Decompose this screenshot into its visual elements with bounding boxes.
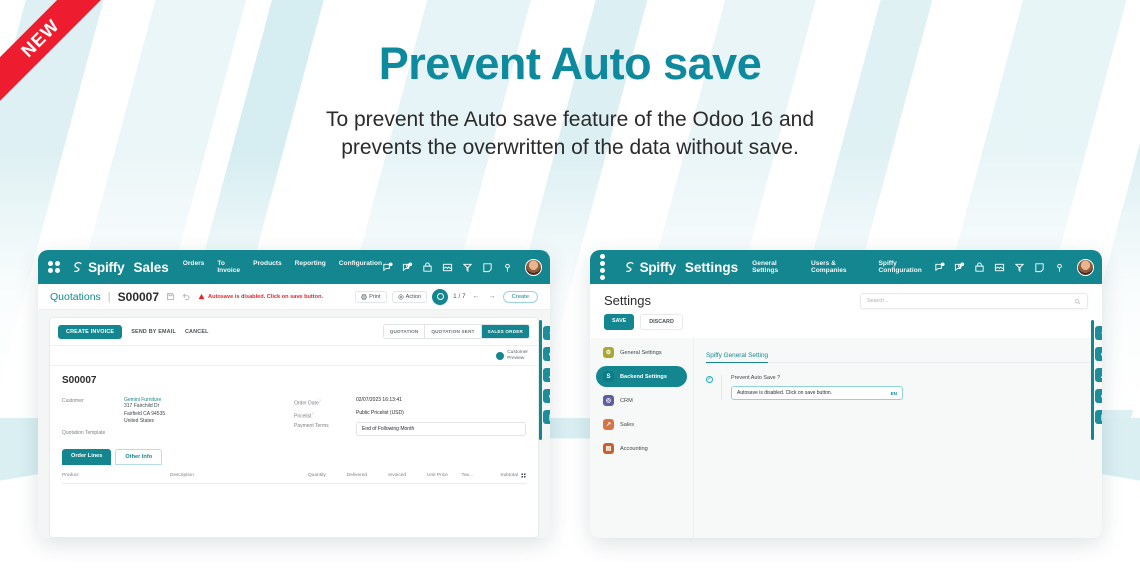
stage-sales-order[interactable]: SALES ORDER [481,325,529,338]
activities-icon[interactable] [402,262,413,273]
tab-spiffy-general-setting[interactable]: Spiffy General Setting [706,352,768,363]
sidebar-label-accounting: Accounting [620,446,648,452]
form-fields: Customer Gemini Furniture 317 Fairchild … [62,397,526,439]
pricelist-label: Pricelist? [294,410,356,420]
sidebar-item-accounting[interactable]: ▤ Accounting [596,438,687,459]
stage-quotation[interactable]: QUOTATION [384,325,425,338]
search-placeholder: Search... [867,298,889,304]
column-tax: Tax... [462,473,501,478]
order-lines-header: Product Description Quantity Delivered I… [62,466,526,484]
spiffy-logo[interactable]: Spiffy [622,260,676,275]
tab-other-info[interactable]: Other Info [115,449,162,465]
right-floating-toolbar [1095,326,1102,424]
sales-icon: ↗ [603,419,614,430]
sidebar-item-sales[interactable]: ↗ Sales [596,414,687,435]
payment-terms-input[interactable]: End of Following Month [356,422,526,436]
form-left-column: Customer Gemini Furniture 317 Fairchild … [62,397,294,439]
settings-title: Settings [604,293,651,308]
tab-order-lines[interactable]: Order Lines [62,449,111,465]
prevent-auto-save-label: Prevent Auto Save ? [731,375,903,381]
globe-icon [496,352,504,360]
nav-item-general-settings[interactable]: General Settings [752,260,798,274]
search-icon[interactable] [1095,347,1102,361]
breadcrumb-root[interactable]: Quotations [50,291,101,303]
page-title: Prevent Auto save [0,38,1140,90]
quotation-template-label: Quotation Template [62,429,124,436]
create-invoice-button[interactable]: CREATE INVOICE [58,325,122,339]
customer-preview-label: Customer Preview [507,350,528,362]
column-delivered: Delivered [347,473,388,478]
note-icon[interactable] [482,262,493,273]
sales-quotation-panel: Spiffy Sales Orders To Invoice Products … [38,250,550,538]
customer-address-line3: United States [124,418,165,426]
print-label: Print [369,294,381,300]
megaphone-icon[interactable] [1014,262,1025,273]
edit-pencil-icon[interactable] [543,368,550,382]
pager-count: 1 / 7 [453,293,465,300]
pin-icon[interactable] [1054,262,1065,273]
field-pricelist: Pricelist? Public Pricelist (USD) [294,410,526,420]
subtitle-line-2: prevents the overwritten of the data wit… [0,134,1140,162]
autosave-message-input[interactable]: Autosave is disabled. Click on save butt… [731,386,903,400]
column-subtotal: Subtotal [500,473,518,478]
header: Prevent Auto save To prevent the Auto sa… [0,0,1140,163]
discard-button[interactable]: DISCARD [640,314,683,330]
settings-panel: Spiffy Settings General Settings Users &… [590,250,1102,538]
zoom-icon[interactable] [543,389,550,403]
setting-content: Prevent Auto Save ? Autosave is disabled… [721,375,903,400]
control-panel-right: Print Action 1 / 7 ← → Create [355,289,538,305]
note-icon[interactable] [1034,262,1045,273]
search-input[interactable]: Search... [860,293,1088,309]
shop-icon[interactable] [422,262,433,273]
save-button[interactable]: SAVE [604,314,634,330]
column-subtotal-group: Subtotal [500,473,526,478]
left-floating-toolbar [543,326,550,424]
customer-value-group: Gemini Furniture 317 Fairchild Dr Fairfi… [124,397,165,426]
control-panel: Quotations | S00007 Autosave is disabled… [38,284,550,310]
customer-preview-button[interactable]: Customer Preview [50,345,538,366]
backend-settings-icon: S [603,371,614,382]
right-navbar: Spiffy Settings General Settings Users &… [590,250,1102,284]
order-date-label-text: Order Date [294,401,319,407]
gear-icon [398,294,404,300]
setting-prevent-auto-save: ✓ Prevent Auto Save ? Autosave is disabl… [706,375,1090,400]
autosave-message-value: Autosave is disabled. Click on save butt… [737,390,832,396]
create-button[interactable]: Create [503,291,538,303]
activities-icon[interactable] [954,262,965,273]
accounting-icon: ▤ [603,443,614,454]
field-payment-terms: Payment Terms End of Following Month [294,422,526,436]
nav-item-users-companies[interactable]: Users & Companies [811,260,866,274]
print-button[interactable]: Print [355,291,387,303]
page-subtitle: To prevent the Auto save feature of the … [0,106,1140,163]
user-avatar[interactable] [525,259,542,276]
field-quotation-template: Quotation Template [62,429,294,436]
autosave-warning-text: Autosave is disabled. Click on save butt… [208,294,323,300]
stage-quotation-sent[interactable]: QUOTATION SENT [424,325,480,338]
user-avatar[interactable] [1077,259,1094,276]
navbar-right-icons [934,259,1094,276]
field-order-date: Order Date? 02/07/2023 16:13:41 [294,397,526,407]
required-marker: ? [319,398,321,403]
star-icon[interactable] [1095,326,1102,340]
customer-preview-line1: Customer [507,350,528,355]
customer-preview-line2: Preview [507,356,524,361]
app-name: Sales [133,260,168,275]
sheet-wrapper: CREATE INVOICE SEND BY EMAIL CANCEL QUOT… [38,310,550,538]
form-tabs: Order Lines Other Info [62,449,526,465]
right-rail-accent [1091,320,1094,440]
messages-icon[interactable] [382,262,393,273]
app-name: Settings [685,260,738,275]
language-badge[interactable]: EN [891,391,897,396]
settings-header: Settings Search... [590,284,1102,309]
spiffy-swirl-icon [70,260,85,275]
pricelist-value[interactable]: Public Pricelist (USD) [356,410,404,420]
nav-item-reporting[interactable]: Reporting [295,260,326,274]
general-settings-icon: ⚙ [603,347,614,358]
save-icon[interactable] [166,292,175,301]
autosave-warning: Autosave is disabled. Click on save butt… [198,293,323,300]
column-invoiced: Invoiced [388,473,427,478]
sidebar-item-general-settings[interactable]: ⚙ General Settings [596,342,687,363]
breadcrumb-current: S00007 [118,290,159,304]
status-button-bar: CREATE INVOICE SEND BY EMAIL CANCEL QUOT… [50,318,538,345]
shop-icon[interactable] [974,262,985,273]
stage-bar: QUOTATION QUOTATION SENT SALES ORDER [383,324,530,339]
search-icon [1074,298,1081,305]
action-label: Action [406,294,422,300]
spiffy-swirl-icon [622,260,637,275]
form-sheet: CREATE INVOICE SEND BY EMAIL CANCEL QUOT… [49,317,539,538]
field-customer: Customer Gemini Furniture 317 Fairchild … [62,397,294,426]
sheet-body: S00007 Customer Gemini Furniture 317 Fai… [50,366,538,484]
settings-body: ⚙ General Settings S Backend Settings ◎ … [590,338,1102,538]
crm-icon: ◎ [603,395,614,406]
sidebar-item-crm[interactable]: ◎ CRM [596,390,687,411]
sidebar-item-backend-settings[interactable]: S Backend Settings [596,366,687,387]
loading-indicator-icon[interactable] [432,289,448,305]
sidebar-label-sales: Sales [620,422,634,428]
brand-name: Spiffy [640,260,676,275]
prevent-auto-save-checkbox[interactable]: ✓ [706,376,713,383]
column-quantity: Quantity [308,473,347,478]
nav-item-orders[interactable]: Orders [183,260,205,274]
order-date-label: Order Date? [294,397,356,407]
navbar-right-icons [382,259,542,276]
nav-menu: Orders To Invoice Products Reporting Con… [183,260,382,274]
left-navbar: Spiffy Sales Orders To Invoice Products … [38,250,550,284]
pin-icon[interactable] [502,262,513,273]
column-options-icon[interactable] [521,473,526,478]
pager-next-button[interactable]: → [487,291,498,302]
apps-grid-icon[interactable] [600,254,612,280]
nav-item-configuration[interactable]: Configuration [339,260,382,274]
sidebar-label-crm: CRM [620,398,633,404]
order-date-value[interactable]: 02/07/2023 16:13:41 [356,397,402,407]
cancel-button[interactable]: CANCEL [185,329,209,335]
settings-main: Spiffy General Setting ✓ Prevent Auto Sa… [694,338,1102,538]
gallery-icon[interactable] [994,262,1005,273]
discard-undo-icon[interactable] [182,292,191,301]
column-product: Product [62,473,170,478]
column-description: Description [170,473,308,478]
star-icon[interactable] [543,326,550,340]
nav-menu: General Settings Users & Companies Spiff… [752,260,934,274]
bookmark-icon[interactable] [1095,410,1102,424]
send-by-email-button[interactable]: SEND BY EMAIL [131,329,176,335]
sidebar-label-backend-settings: Backend Settings [620,374,667,380]
warning-triangle-icon [198,293,205,300]
apps-grid-icon[interactable] [48,261,60,273]
customer-address-line2: Fairfield CA 94535 [124,411,165,419]
new-ribbon-label: NEW [0,0,112,111]
customer-label: Customer [62,397,124,426]
gallery-icon[interactable] [442,262,453,273]
pricelist-help-marker: ? [312,411,314,416]
document-title: S00007 [62,375,526,386]
edit-pencil-icon[interactable] [1095,368,1102,382]
bookmark-icon[interactable] [543,410,550,424]
settings-actions: SAVE DISCARD [590,309,1102,338]
form-right-column: Order Date? 02/07/2023 16:13:41 Pricelis… [294,397,526,439]
brand-name: Spiffy [88,260,124,275]
payment-terms-label: Payment Terms [294,422,356,436]
settings-sidebar: ⚙ General Settings S Backend Settings ◎ … [590,338,694,538]
action-button[interactable]: Action [392,291,428,303]
sidebar-label-general-settings: General Settings [620,350,662,356]
spiffy-logo[interactable]: Spiffy [70,260,124,275]
customer-address-line1: 317 Fairchild Dr [124,403,165,411]
search-icon[interactable] [543,347,550,361]
left-rail-accent [539,320,542,440]
zoom-icon[interactable] [1095,389,1102,403]
nav-item-to-invoice[interactable]: To Invoice [217,260,240,274]
print-icon [361,294,367,300]
new-ribbon: NEW [0,0,112,112]
nav-item-products[interactable]: Products [253,260,282,274]
pager-prev-button[interactable]: ← [471,291,482,302]
messages-icon[interactable] [934,262,945,273]
breadcrumb-separator: | [108,291,111,303]
subtitle-line-1: To prevent the Auto save feature of the … [0,106,1140,134]
column-unit-price: Unit Price [427,473,462,478]
pricelist-label-text: Pricelist [294,413,312,419]
nav-item-spiffy-configuration[interactable]: Spiffy Configuration [879,260,934,274]
megaphone-icon[interactable] [462,262,473,273]
